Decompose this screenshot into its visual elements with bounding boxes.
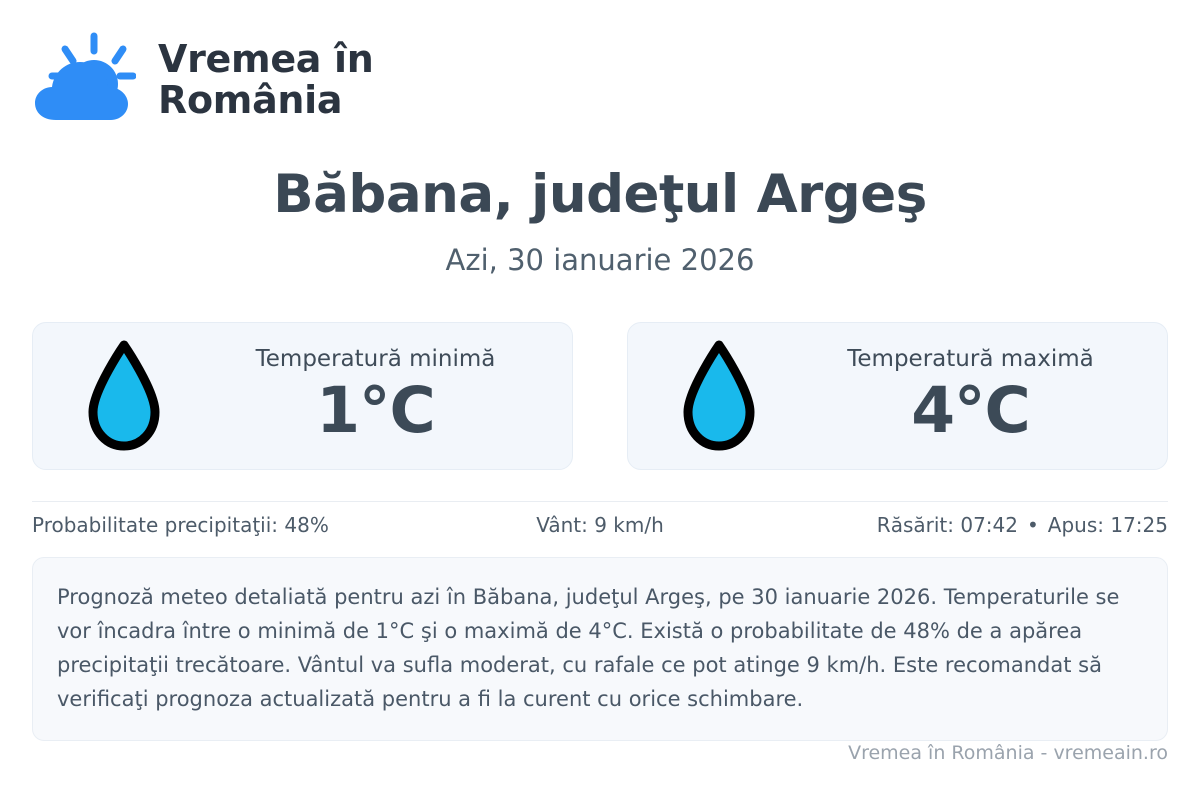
max-temperature-value: 4°C: [911, 376, 1030, 447]
temperature-cards: Temperatură minimă 1°C Temperatură maxim…: [32, 322, 1168, 470]
min-temperature-text: Temperatură minimă 1°C: [197, 346, 554, 446]
min-temperature-value: 1°C: [316, 376, 435, 447]
brand-name: Vremea în România: [158, 39, 374, 122]
sun-separator: •: [1018, 513, 1048, 537]
brand-header: Vremea în România: [32, 0, 1168, 110]
sun-times-stat: Răsărit: 07:42•Apus: 17:25: [782, 513, 1168, 537]
min-temperature-label: Temperatură minimă: [256, 346, 496, 374]
water-drop-icon: [85, 340, 163, 452]
date-subtitle: Azi, 30 ianuarie 2026: [32, 245, 1168, 277]
max-temperature-card: Temperatură maximă 4°C: [627, 322, 1168, 470]
max-temperature-text: Temperatură maximă 4°C: [792, 346, 1149, 446]
precipitation-stat: Probabilitate precipitaţii: 48%: [32, 513, 418, 537]
sunrise-time: Răsărit: 07:42: [877, 513, 1018, 537]
footer-credit: Vremea în România - vremeain.ro: [848, 742, 1168, 764]
water-drop-icon: [680, 340, 758, 452]
stats-row: Probabilitate precipitaţii: 48% Vânt: 9 …: [32, 502, 1168, 548]
min-temperature-card: Temperatură minimă 1°C: [32, 322, 573, 470]
sun-cloud-icon: [32, 32, 136, 128]
forecast-description: Prognoză meteo detaliată pentru azi în B…: [32, 557, 1168, 741]
sunset-time: Apus: 17:25: [1048, 513, 1168, 537]
max-temperature-label: Temperatură maximă: [847, 346, 1093, 374]
wind-stat: Vânt: 9 km/h: [418, 513, 782, 537]
page-title: Băbana, judeţul Argeş: [32, 166, 1168, 223]
weather-page: Vremea în România Băbana, judeţul Argeş …: [0, 0, 1200, 800]
